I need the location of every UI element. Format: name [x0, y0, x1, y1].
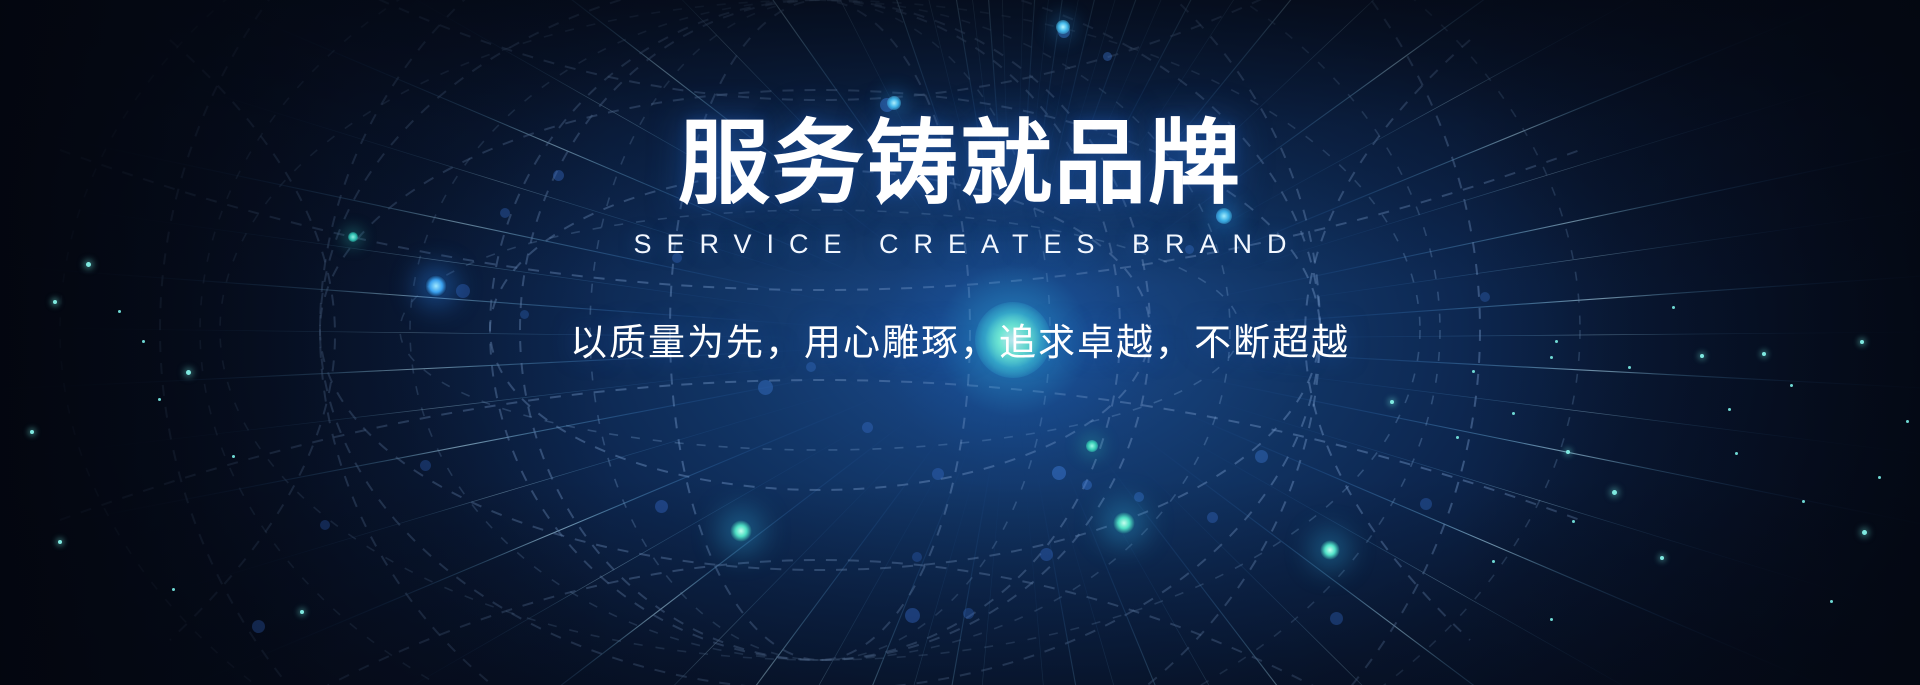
background-side-shade — [0, 0, 1920, 685]
hero-banner: 服务铸就品牌 SERVICE CREATES BRAND 以质量为先，用心雕琢，… — [0, 0, 1920, 685]
